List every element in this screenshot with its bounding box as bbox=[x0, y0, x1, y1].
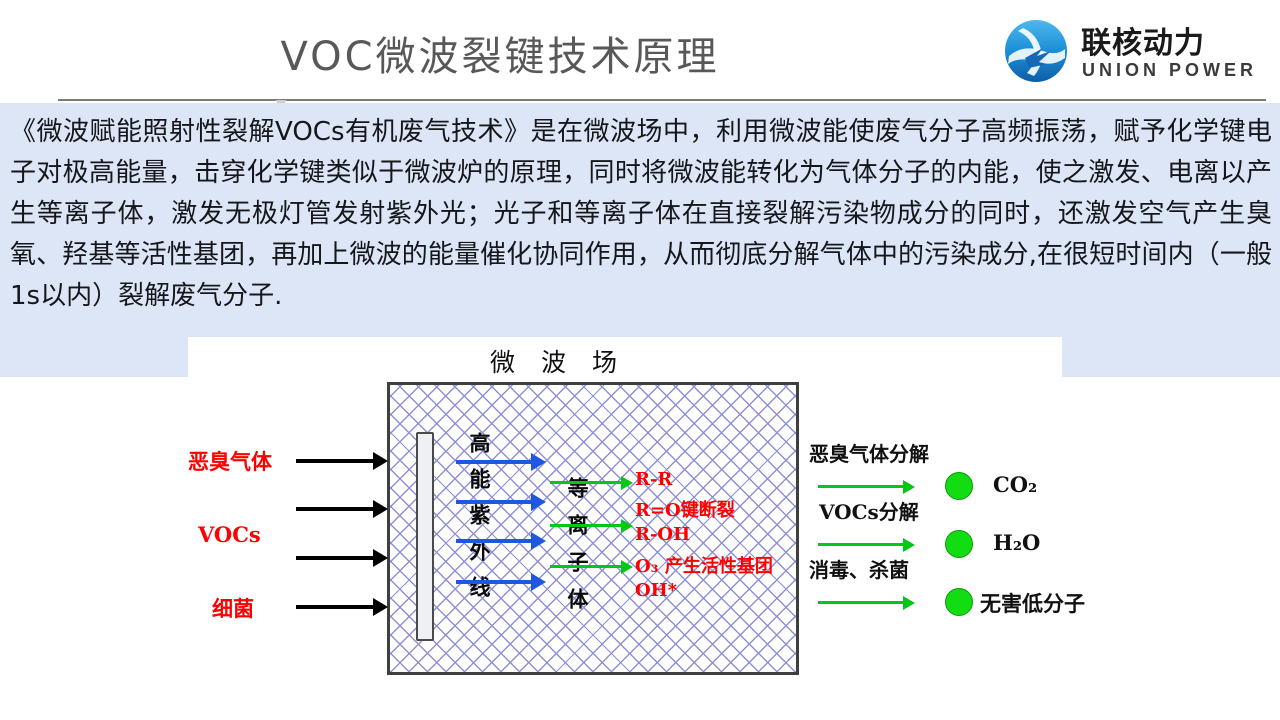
brand-logo: 联核动力 UNION POWER bbox=[1003, 16, 1269, 90]
title-divider bbox=[58, 99, 1266, 101]
input-label-bacteria: 细菌 bbox=[212, 593, 254, 623]
output-label-odor-decomposition: 恶臭气体分解 bbox=[809, 438, 929, 467]
product-label-h2o: H₂O bbox=[993, 530, 1040, 555]
uv-label: 高能紫外线 bbox=[473, 432, 497, 612]
slide-root: VOC微波裂键技术原理 联核动力 UNION POWER 《微 bbox=[0, 0, 1280, 720]
reaction-text-3: R-OH bbox=[635, 524, 690, 545]
reaction-text-4: O₃ 产生活性基团 bbox=[635, 552, 773, 578]
logo-text-cn: 联核动力 bbox=[1081, 18, 1205, 62]
electrodeless-lamp-tube-icon bbox=[416, 432, 434, 641]
product-dot-1 bbox=[945, 472, 973, 500]
logo-text-en: UNION POWER bbox=[1082, 60, 1257, 81]
process-diagram: 微 波 场 恶臭气体 VOCs 细菌 高能紫外线 bbox=[188, 337, 1062, 720]
output-label-vocs-decomposition: VOCs分解 bbox=[819, 496, 919, 525]
body-paragraph: 《微波赋能照射性裂解VOCs有机废气技术》是在微波场中，利用微波能使废气分子高频… bbox=[10, 112, 1272, 317]
microwave-field-title: 微 波 场 bbox=[438, 343, 678, 379]
union-power-globe-icon bbox=[1003, 18, 1069, 84]
output-label-disinfection: 消毒、杀菌 bbox=[809, 554, 909, 583]
reaction-text-2: R=O键断裂 bbox=[635, 496, 735, 522]
product-label-co2: CO₂ bbox=[993, 472, 1037, 497]
reaction-text-1: R-R bbox=[635, 469, 672, 490]
reaction-text-5: OH* bbox=[635, 580, 677, 601]
product-dot-3 bbox=[945, 588, 973, 616]
input-label-vocs: VOCs bbox=[198, 522, 261, 547]
product-dot-2 bbox=[945, 530, 973, 558]
plasma-label: 等离子体 bbox=[571, 477, 595, 625]
page-title: VOC微波裂键技术原理 bbox=[0, 24, 1000, 82]
product-label-harmless: 无害低分子 bbox=[980, 588, 1085, 618]
input-label-odor: 恶臭气体 bbox=[188, 446, 272, 476]
